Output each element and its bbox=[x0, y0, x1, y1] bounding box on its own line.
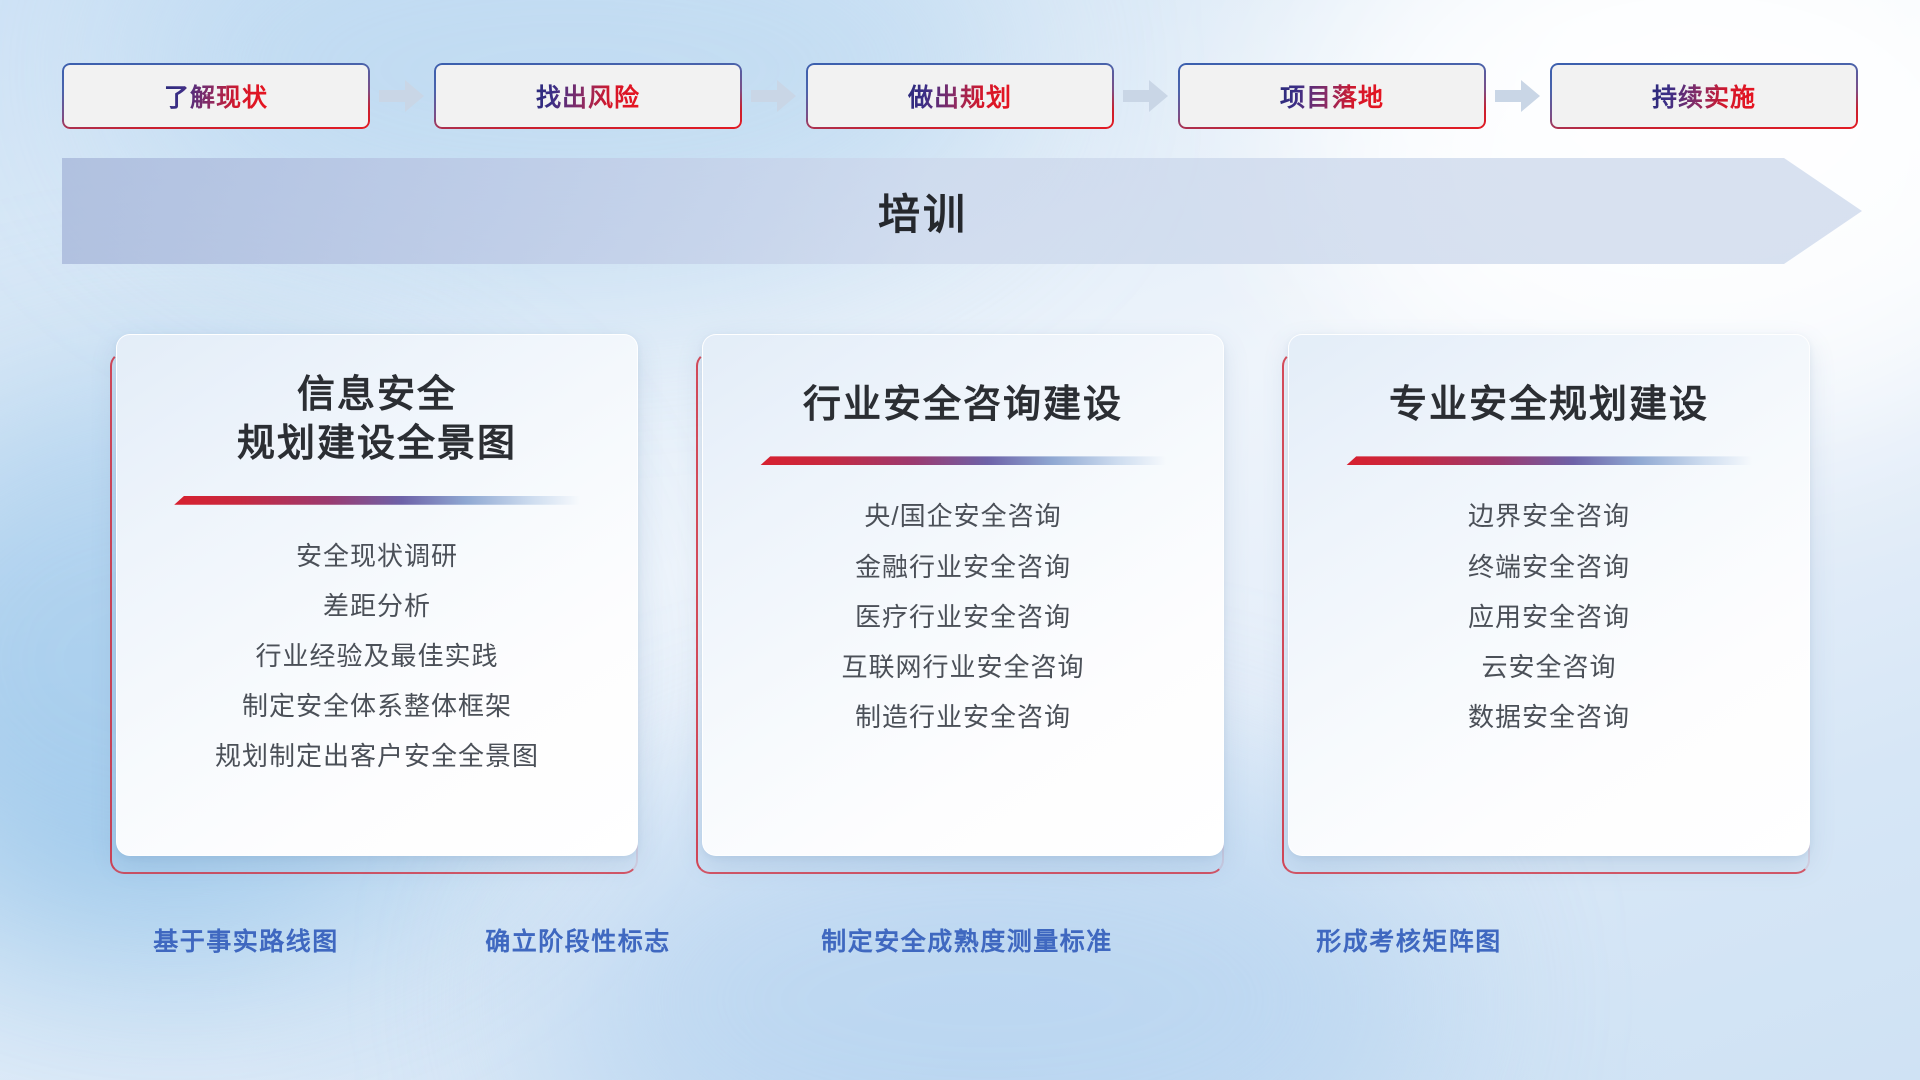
process-step-flow: 了解现状 找出风险 做出规划 项目落地 bbox=[62, 62, 1862, 130]
banner-title: 培训 bbox=[62, 158, 1862, 264]
footer-tag-row: 基于事实路线图 确立阶段性标志 制定安全成熟度测量标准 形成考核矩阵图 bbox=[0, 922, 1920, 968]
card-divider-2 bbox=[760, 456, 1166, 465]
list-item: 差距分析 bbox=[323, 585, 431, 627]
arrow-right-icon-4 bbox=[1486, 79, 1550, 113]
slide-canvas: 了解现状 找出风险 做出规划 项目落地 bbox=[0, 0, 1920, 1080]
card-title-1: 信息安全 规划建设全景图 bbox=[237, 371, 517, 470]
list-item: 云安全咨询 bbox=[1481, 646, 1616, 688]
list-item: 规划制定出客户安全全景图 bbox=[215, 735, 539, 777]
training-banner: 培训 bbox=[62, 158, 1862, 264]
list-item: 边界安全咨询 bbox=[1468, 495, 1630, 537]
arrow-right-icon-1 bbox=[370, 79, 434, 113]
card-list-3: 边界安全咨询 终端安全咨询 应用安全咨询 云安全咨询 数据安全咨询 bbox=[1289, 495, 1809, 738]
step-box-4[interactable]: 项目落地 bbox=[1178, 63, 1486, 129]
card-divider-3 bbox=[1346, 456, 1752, 465]
card-2[interactable]: 行业安全咨询建设 央/国企安全咨询 金融行业安全咨询 医疗行业安全咨询 互联网行… bbox=[696, 334, 1224, 874]
card-divider-1 bbox=[174, 496, 580, 505]
footer-tag-2: 确立阶段性标志 bbox=[485, 922, 671, 958]
list-item: 安全现状调研 bbox=[296, 535, 458, 577]
card-3[interactable]: 专业安全规划建设 边界安全咨询 终端安全咨询 应用安全咨询 云安全咨询 数据安全… bbox=[1282, 334, 1810, 874]
list-item: 应用安全咨询 bbox=[1468, 596, 1630, 638]
step-label-2: 找出风险 bbox=[536, 78, 640, 114]
arrow-right-icon-3 bbox=[1114, 79, 1178, 113]
step-box-1[interactable]: 了解现状 bbox=[62, 63, 370, 129]
footer-tag-1: 基于事实路线图 bbox=[153, 922, 339, 958]
list-item: 互联网行业安全咨询 bbox=[841, 646, 1084, 688]
step-label-3: 做出规划 bbox=[908, 78, 1012, 114]
footer-tag-4: 形成考核矩阵图 bbox=[1316, 922, 1502, 958]
list-item: 行业经验及最佳实践 bbox=[255, 635, 498, 677]
list-item: 数据安全咨询 bbox=[1468, 696, 1630, 738]
arrow-right-icon-2 bbox=[742, 79, 806, 113]
list-item: 制造行业安全咨询 bbox=[855, 696, 1071, 738]
list-item: 制定安全体系整体框架 bbox=[242, 685, 512, 727]
step-box-2[interactable]: 找出风险 bbox=[434, 63, 742, 129]
card-title-2: 行业安全咨询建设 bbox=[803, 381, 1123, 430]
list-item: 央/国企安全咨询 bbox=[864, 495, 1061, 537]
step-label-1: 了解现状 bbox=[164, 78, 268, 114]
card-title-3: 专业安全规划建设 bbox=[1389, 381, 1709, 430]
card-group: 信息安全 规划建设全景图 安全现状调研 差距分析 行业经验及最佳实践 制定安全体… bbox=[110, 334, 1810, 874]
list-item: 金融行业安全咨询 bbox=[855, 546, 1071, 588]
list-item: 终端安全咨询 bbox=[1468, 546, 1630, 588]
card-list-2: 央/国企安全咨询 金融行业安全咨询 医疗行业安全咨询 互联网行业安全咨询 制造行… bbox=[703, 495, 1223, 738]
list-item: 医疗行业安全咨询 bbox=[855, 596, 1071, 638]
footer-tag-3: 制定安全成熟度测量标准 bbox=[821, 922, 1113, 958]
card-1[interactable]: 信息安全 规划建设全景图 安全现状调研 差距分析 行业经验及最佳实践 制定安全体… bbox=[110, 334, 638, 874]
step-box-5[interactable]: 持续实施 bbox=[1550, 63, 1858, 129]
card-list-1: 安全现状调研 差距分析 行业经验及最佳实践 制定安全体系整体框架 规划制定出客户… bbox=[117, 535, 637, 778]
step-label-4: 项目落地 bbox=[1280, 78, 1384, 114]
step-label-5: 持续实施 bbox=[1652, 78, 1756, 114]
step-box-3[interactable]: 做出规划 bbox=[806, 63, 1114, 129]
